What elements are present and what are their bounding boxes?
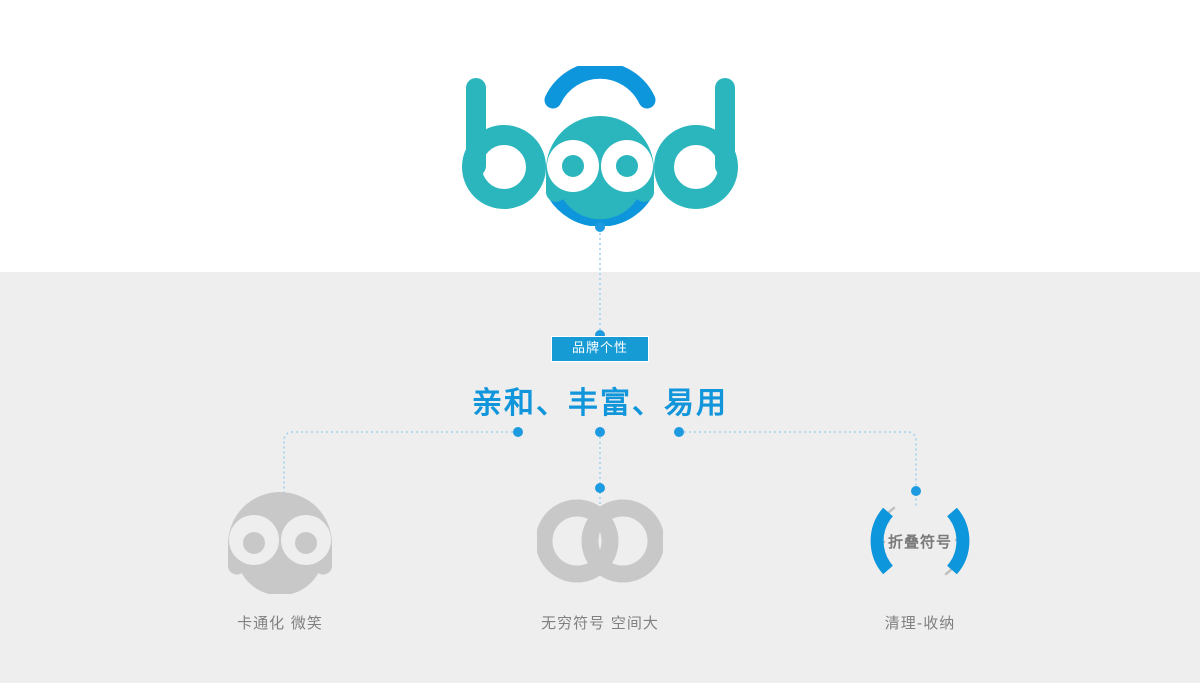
infinity-symbol-icon <box>470 488 730 594</box>
fold-symbol-label: 折叠符号 <box>790 488 1050 594</box>
left-pupil <box>243 532 265 554</box>
pillar-infinity: 无穷符号 空间大 <box>470 488 730 633</box>
logo-top-arc <box>553 70 647 100</box>
logo-right-pupil <box>616 155 638 177</box>
logo-svg <box>440 66 760 226</box>
logo-letter-b-bowl <box>472 135 536 199</box>
cartoon-face-smile-icon <box>150 488 410 594</box>
infinity-right-ring <box>590 508 656 574</box>
cartoon-face-svg <box>220 488 340 594</box>
pillar-caption: 无穷符号 空间大 <box>470 612 730 633</box>
fold-recycle-arrows-icon: 折叠符号 <box>790 488 1050 594</box>
logo-left-pupil <box>562 155 584 177</box>
page-title: 亲和、丰富、易用 <box>0 378 1200 422</box>
pillar-caption: 清理-收纳 <box>790 612 1050 633</box>
pillar-cartoon-face: 卡通化 微笑 <box>150 488 410 633</box>
brand-personality-badge[interactable]: 品牌个性 <box>551 336 649 362</box>
right-pupil <box>295 532 317 554</box>
pillar-fold-recycle: 折叠符号 清理-收纳 <box>790 488 1050 633</box>
brand-logo <box>440 66 760 226</box>
brand-personality-diagram: 品牌个性 亲和、丰富、易用 卡通化 微笑 无穷符号 空间大 <box>0 0 1200 683</box>
pillar-caption: 卡通化 微笑 <box>150 612 410 633</box>
infinity-svg <box>537 493 663 589</box>
